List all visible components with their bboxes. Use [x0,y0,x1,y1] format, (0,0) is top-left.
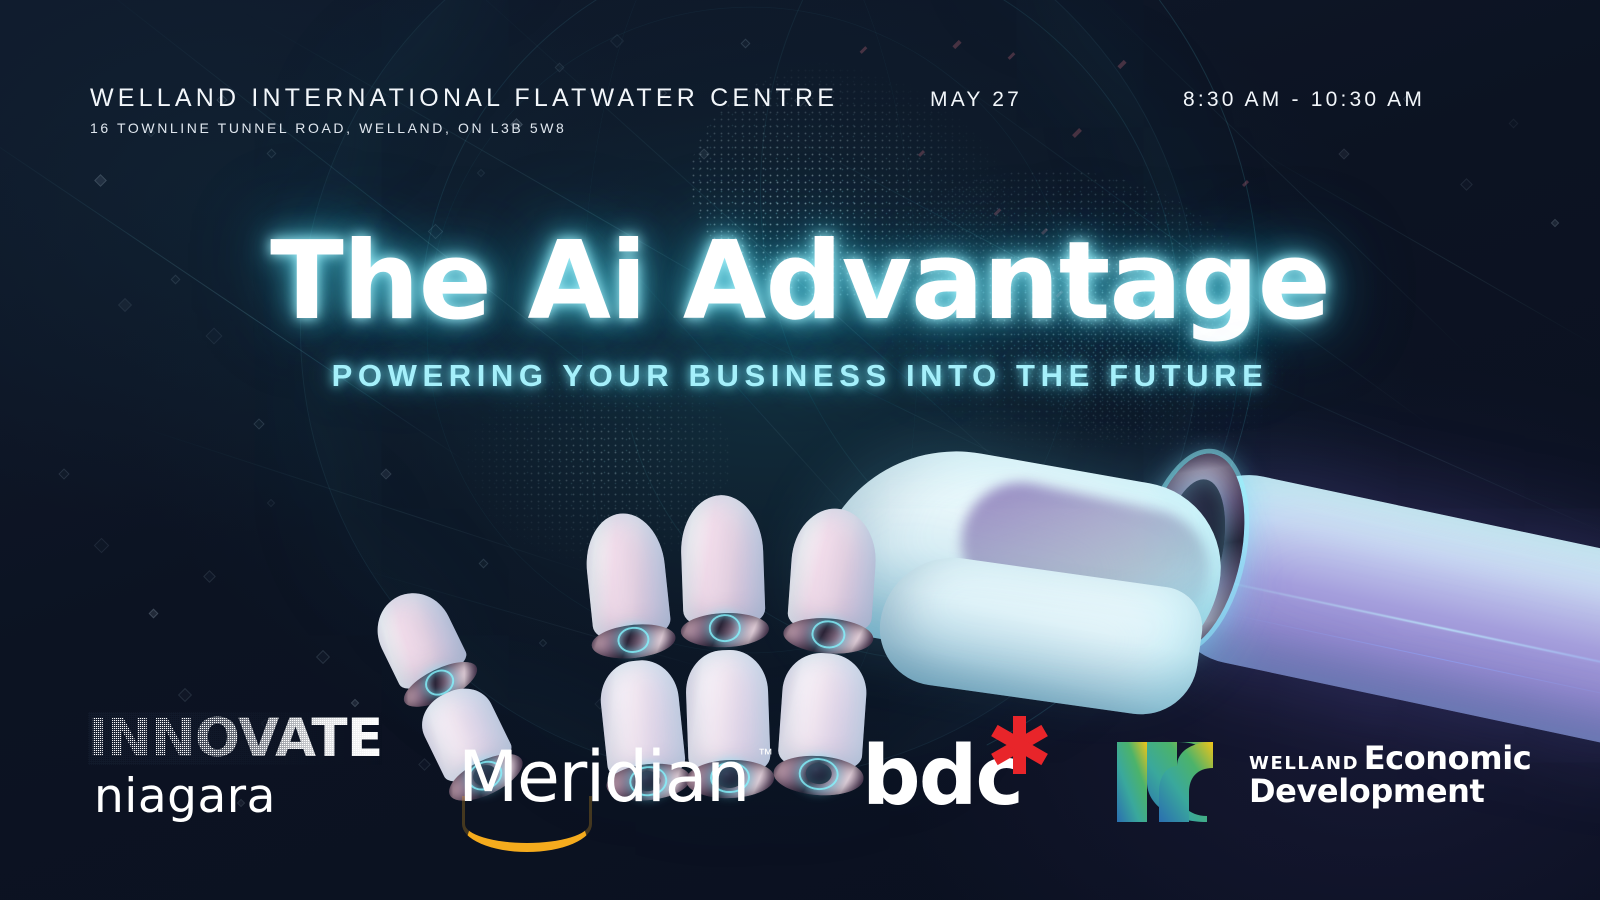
trademark-symbol: ™ [758,746,773,763]
event-time: 8:30 AM - 10:30 AM [1183,88,1425,112]
finger-tip-segment [787,506,879,633]
welland-name-line2: Development [1249,775,1531,807]
page-title: The Ai Advantage [0,228,1600,336]
meridian-wordmark-row: Meridian ™ [458,742,749,812]
finger-tip-segment [581,510,672,641]
meridian-swoosh-icon [462,796,592,852]
bdc-asterisk-icon [990,716,1048,774]
logo-welland-economic-development: WELLAND Economic Development [1113,726,1531,822]
venue-block: WELLAND INTERNATIONAL FLATWATER CENTRE 1… [90,84,838,136]
logo-bdc: bdc [862,736,1022,818]
welland-name-line1: Economic [1364,739,1532,777]
event-poster: WELLAND INTERNATIONAL FLATWATER CENTRE 1… [0,0,1600,900]
forearm-highlight [1211,578,1600,680]
event-date: MAY 27 [930,88,1022,112]
niagara-wordmark: niagara [94,773,383,820]
finger-tip-segment [679,494,765,627]
welland-eyebrow: WELLAND [1249,753,1359,774]
forearm-seam [1224,612,1600,704]
logo-meridian: Meridian ™ [458,742,749,812]
welland-name: Economic Development [1249,739,1531,807]
hero-text-block: The Ai Advantage POWERING YOUR BUSINESS … [0,228,1600,394]
logo-innovate-niagara: INNOVATE niagara [88,712,383,820]
venue-address: 16 TOWNLINE TUNNEL ROAD, WELLAND, ON L3B… [90,120,838,136]
venue-name: WELLAND INTERNATIONAL FLATWATER CENTRE [90,84,838,113]
welland-w-mark-icon [1113,726,1231,822]
innovate-wordmark: INNOVATE [88,712,383,765]
poster-header: WELLAND INTERNATIONAL FLATWATER CENTRE 1… [0,0,1600,160]
welland-text-block: WELLAND Economic Development [1249,742,1531,807]
sponsor-logo-row: INNOVATE niagara Meridian ™ bdc [0,700,1600,880]
page-subtitle: POWERING YOUR BUSINESS INTO THE FUTURE [0,358,1600,394]
